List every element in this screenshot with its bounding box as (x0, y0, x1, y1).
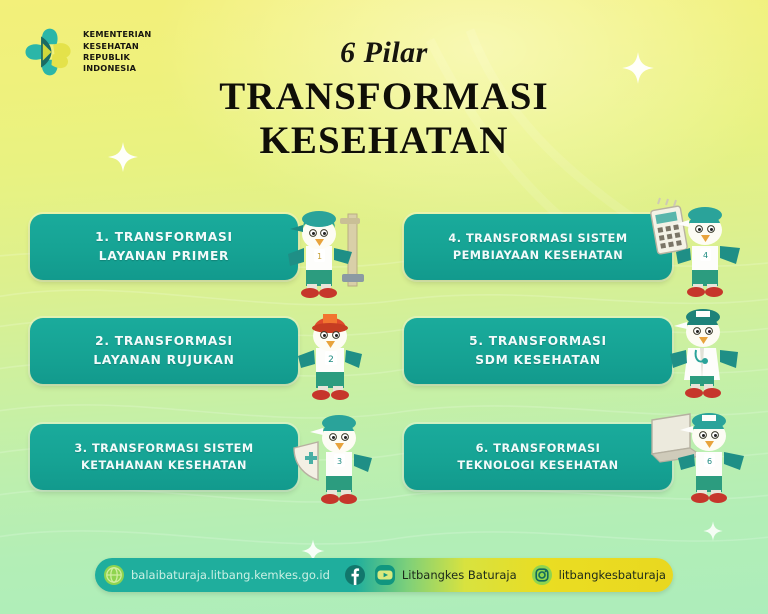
instagram-icon (531, 564, 553, 586)
pillar-1-line-2: LAYANAN PRIMER (99, 247, 229, 266)
svg-text:6: 6 (707, 457, 712, 466)
instagram-handle-text: litbangkesbaturaja (559, 568, 666, 582)
page-title: 6 Pilar TRANSFORMASI KESEHATAN (0, 38, 768, 162)
globe-icon (103, 564, 125, 586)
facebook-icon (344, 564, 366, 586)
pillars-grid: 1 2 (0, 196, 768, 526)
svg-text:2: 2 (328, 355, 334, 365)
pillar-6-line-2: TEKNOLOGI KESEHATAN (457, 457, 618, 475)
title-line-2: KESEHATAN (0, 119, 768, 163)
pillar-2-line-2: LAYANAN RUJUKAN (93, 351, 234, 370)
pillar-2-line-1: 2. TRANSFORMASI (95, 332, 233, 351)
svg-text:4: 4 (703, 251, 708, 260)
mascot-with-red-helmet-icon: 2 (292, 298, 374, 402)
social-name-text: Litbangkes Baturaja (402, 568, 517, 582)
instagram-item[interactable]: litbangkesbaturaja (531, 564, 666, 586)
pillar-6-line-1: 6. TRANSFORMASI (476, 440, 601, 458)
mascot-with-shield-icon: 3 (288, 404, 384, 506)
website-text: balaibaturaja.litbang.kemkes.go.id (131, 568, 330, 582)
mascot-doctor-icon (662, 298, 754, 402)
pillar-card-5[interactable]: 5. TRANSFORMASI SDM KESEHATAN (404, 318, 672, 384)
svg-text:3: 3 (337, 457, 342, 466)
website-item[interactable]: balaibaturaja.litbang.kemkes.go.id (103, 564, 330, 586)
pillar-card-6[interactable]: 6. TRANSFORMASI TEKNOLOGI KESEHATAN (404, 424, 672, 490)
title-line-1: TRANSFORMASI (0, 75, 768, 119)
pillar-4-line-2: PEMBIAYAAN KESEHATAN (453, 247, 623, 265)
footer-bar: balaibaturaja.litbang.kemkes.go.id Litba… (95, 558, 673, 592)
pillar-4-line-1: 4. TRANSFORMASI SISTEM (448, 230, 627, 248)
svg-text:1: 1 (317, 252, 322, 261)
pillar-1-line-1: 1. TRANSFORMASI (95, 228, 233, 247)
poster-canvas: KEMENTERIAN KESEHATAN REPUBLIK INDONESIA… (0, 0, 768, 614)
pillar-3-line-2: KETAHANAN KESEHATAN (81, 457, 247, 475)
facebook-item[interactable] (344, 564, 366, 586)
pillar-card-2[interactable]: 2. TRANSFORMASI LAYANAN RUJUKAN (30, 318, 298, 384)
pillar-5-line-2: SDM KESEHATAN (475, 351, 601, 370)
pillar-card-3[interactable]: 3. TRANSFORMASI SISTEM KETAHANAN KESEHAT… (30, 424, 298, 490)
youtube-icon (374, 564, 396, 586)
pillar-card-1[interactable]: 1. TRANSFORMASI LAYANAN PRIMER (30, 214, 298, 280)
title-main: TRANSFORMASI KESEHATAN (0, 75, 768, 162)
pillar-3-line-1: 3. TRANSFORMASI SISTEM (74, 440, 253, 458)
title-prefix: 6 Pilar (0, 38, 768, 68)
pillar-5-line-1: 5. TRANSFORMASI (469, 332, 607, 351)
pillar-card-4[interactable]: 4. TRANSFORMASI SISTEM PEMBIAYAAN KESEHA… (404, 214, 672, 280)
youtube-item[interactable]: Litbangkes Baturaja (374, 564, 517, 586)
